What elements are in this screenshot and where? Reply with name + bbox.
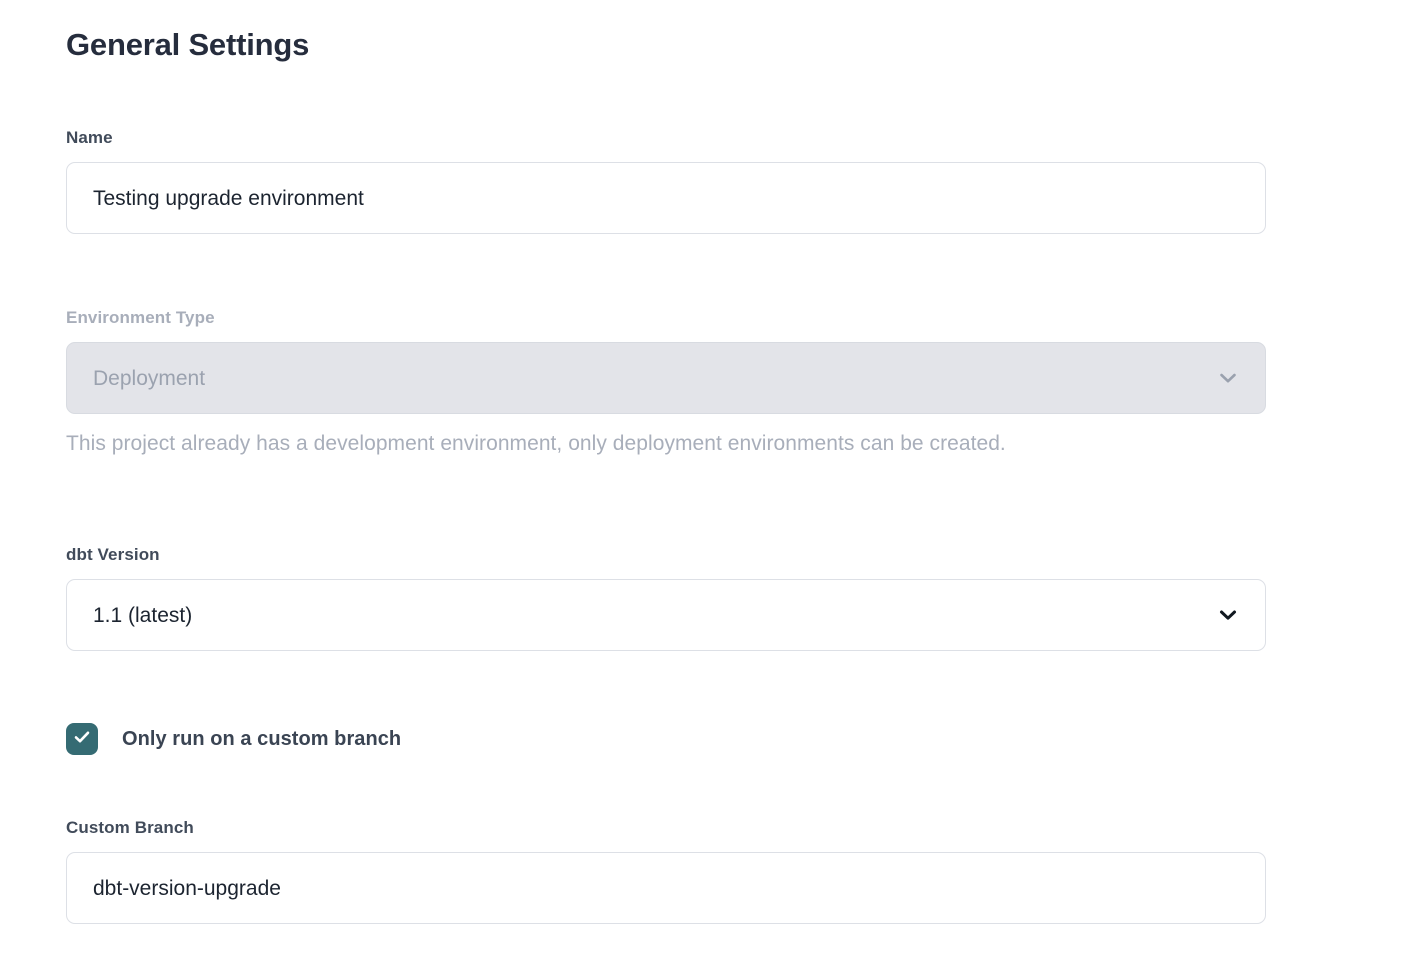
field-group-name: Name Testing upgrade environment <box>66 128 1266 234</box>
chevron-down-icon <box>1217 604 1239 626</box>
general-settings-panel: General Settings Name Testing upgrade en… <box>0 0 1406 958</box>
check-icon <box>72 727 92 752</box>
only-run-on-custom-branch-checkbox[interactable]: Only run on a custom branch <box>66 723 401 755</box>
name-input[interactable]: Testing upgrade environment <box>66 162 1266 234</box>
dbt-version-select[interactable]: 1.1 (latest) <box>66 579 1266 651</box>
custom-branch-label: Custom Branch <box>66 818 1266 838</box>
field-group-environment-type: Environment Type Deployment This project… <box>66 308 1266 458</box>
chevron-down-icon <box>1217 367 1239 389</box>
dbt-version-label: dbt Version <box>66 545 1266 565</box>
checkbox-indicator[interactable] <box>66 723 98 755</box>
page-title: General Settings <box>66 26 309 63</box>
name-label: Name <box>66 128 1266 148</box>
environment-type-value: Deployment <box>93 368 205 389</box>
environment-type-helper-text: This project already has a development e… <box>66 430 1266 457</box>
environment-type-label: Environment Type <box>66 308 1266 328</box>
field-group-dbt-version: dbt Version 1.1 (latest) <box>66 545 1266 651</box>
dbt-version-value: 1.1 (latest) <box>93 605 192 626</box>
custom-branch-input[interactable]: dbt-version-upgrade <box>66 852 1266 924</box>
environment-type-select[interactable]: Deployment <box>66 342 1266 414</box>
only-run-on-custom-branch-label: Only run on a custom branch <box>122 727 401 751</box>
field-group-custom-branch: Custom Branch dbt-version-upgrade <box>66 818 1266 924</box>
